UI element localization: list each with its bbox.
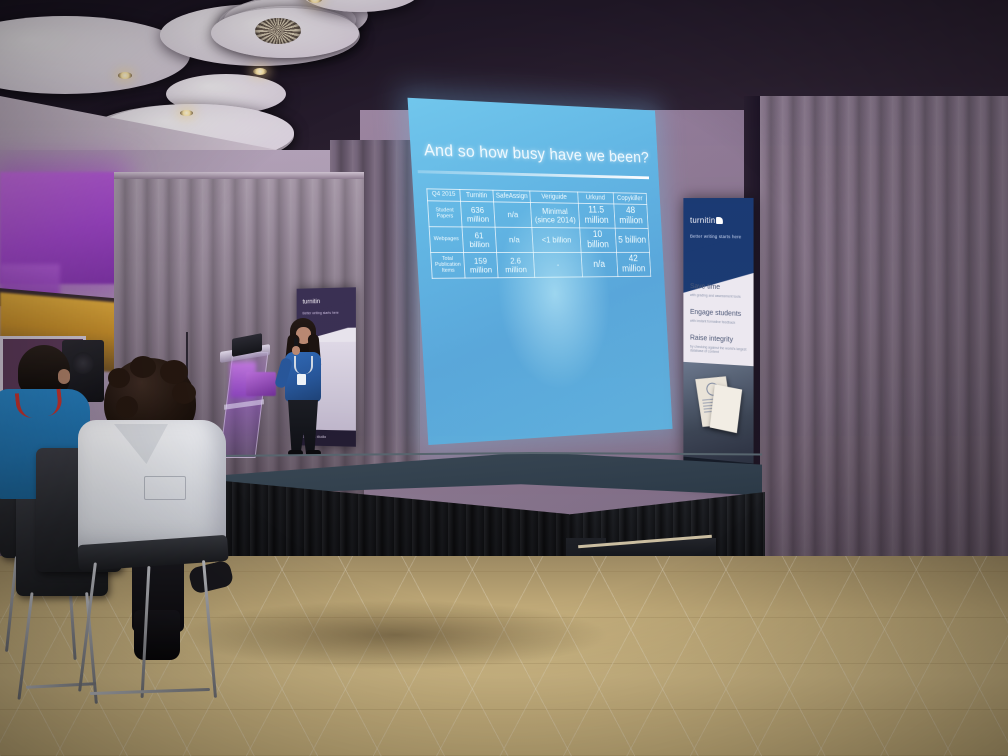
stage-monitor-light (246, 372, 276, 396)
turnitin-logo: turnitin (690, 216, 723, 225)
air-diffuser-icon (255, 18, 301, 44)
curtain-rail (114, 172, 364, 179)
banner-photo (683, 362, 753, 464)
presenter-legs (288, 400, 318, 454)
slide-data-table: Q4 2015 Turnitin SafeAssign Veriguide Ur… (426, 188, 651, 279)
lanyard (294, 356, 313, 374)
chair-leg (17, 592, 33, 700)
table-corner-label: Q4 2015 (427, 189, 461, 202)
cell-r0c3: 11.5 million (578, 204, 615, 229)
document-icon (710, 384, 742, 433)
presenter (276, 318, 332, 456)
cell-r1c1: n/a (495, 228, 534, 253)
row-label-webpages: Webpages (429, 227, 463, 253)
cell-r2c2: - (534, 253, 582, 278)
cell-r1c3: 10 billion (579, 228, 616, 253)
chair-seat (77, 535, 228, 571)
banner-sub-raise-integrity: by checking against the world's largest … (690, 344, 747, 356)
cell-r2c0: 159 million (464, 253, 498, 279)
chair-leg (202, 560, 217, 698)
banner-sub-save-time: with grading and assessment tools (690, 293, 747, 299)
row-label-total-publications: Total Publication Items (431, 253, 465, 279)
turnitin-mark-icon (716, 217, 723, 224)
conference-hall-scene: And so how busy have we been? Q4 2015 Tu… (0, 0, 1008, 756)
floor-shadow (180, 600, 610, 670)
cell-r2c3: n/a (581, 253, 618, 278)
banner-tagline: Better writing starts here (690, 234, 741, 240)
col-header-urkund: Urkund (577, 192, 613, 204)
table-row: Webpages 61 billion n/a <1 billion 10 bi… (429, 227, 649, 253)
downlight (180, 110, 193, 116)
ceiling-panel (211, 8, 359, 58)
table-row: Student Papers 636 million n/a Minimal (… (428, 201, 649, 229)
cell-r1c4: 5 billion (615, 228, 650, 252)
blazer-pocket (144, 476, 186, 500)
cell-r0c1: n/a (493, 202, 532, 228)
chair-leg (141, 566, 151, 698)
table-row: Total Publication Items 159 million 2.6 … (431, 253, 651, 279)
cell-r0c4: 48 million (613, 204, 648, 229)
chair-stretcher (90, 688, 210, 695)
chair[interactable] (78, 540, 238, 730)
downlight (253, 68, 267, 75)
col-header-veriguide: Veriguide (530, 191, 578, 204)
row-label-student-papers: Student Papers (428, 201, 462, 227)
banner-heading-engage-students: Engage students (690, 309, 741, 318)
audience-ear (58, 369, 70, 384)
banner-tagline: Better writing starts here (302, 311, 338, 316)
col-header-safeassign: SafeAssign (493, 190, 531, 203)
slide-title: And so how busy have we been? (423, 140, 645, 167)
cell-r2c1: 2.6 million (496, 253, 535, 278)
cell-r1c2: <1 billion (532, 228, 581, 253)
cell-r2c4: 42 million (616, 253, 651, 277)
downlight (118, 72, 132, 79)
presenter-hand (292, 346, 300, 355)
chair-leg (78, 562, 97, 691)
title-underline (418, 170, 649, 179)
turnitin-banner-large: turnitin Better writing starts here Save… (683, 198, 753, 490)
col-header-copykiller: Copykiller (613, 193, 647, 205)
name-badge (297, 374, 306, 385)
cell-r1c0: 61 billion (462, 227, 496, 253)
logo-text: turnitin (690, 216, 715, 225)
turnitin-logo: turnitin (302, 299, 320, 305)
projection-screen: And so how busy have we been? Q4 2015 Tu… (408, 98, 673, 445)
banner-heading-save-time: Save time (690, 283, 720, 291)
banner-sub-engage-students: with instant formative feedback (690, 319, 747, 326)
cell-r0c0: 636 million (461, 202, 495, 228)
banner-heading-raise-integrity: Raise integrity (690, 335, 733, 344)
col-header-turnitin: Turnitin (460, 190, 494, 203)
cell-r0c2: Minimal (since 2014) (531, 203, 580, 228)
slide-surface: And so how busy have we been? Q4 2015 Tu… (408, 98, 673, 445)
